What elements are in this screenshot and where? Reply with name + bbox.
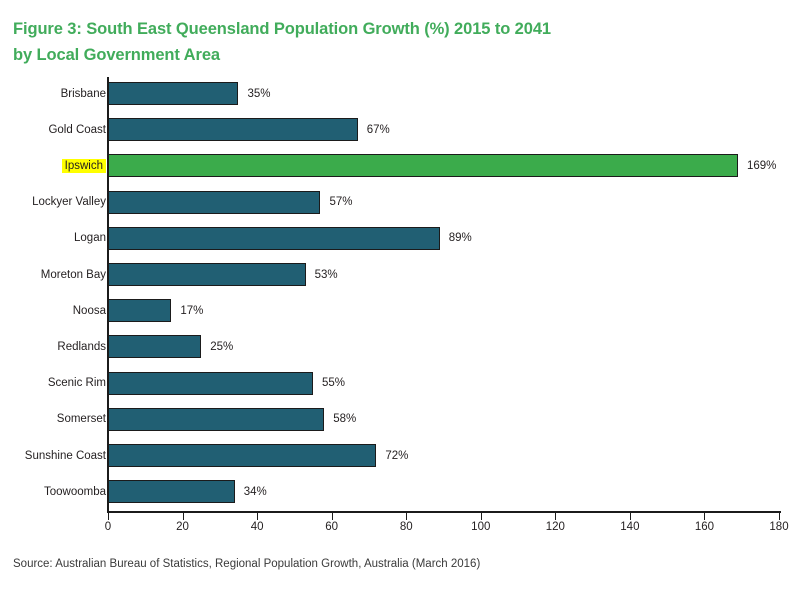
x-tick-label-160: 160 [695, 521, 714, 533]
bar-sunshine-coast [108, 444, 376, 467]
highlight-marker: Ipswich [62, 159, 106, 173]
x-tick-140 [630, 513, 631, 520]
x-tick-160 [704, 513, 705, 520]
category-label-brisbane: Brisbane [61, 87, 106, 101]
x-tick-label-0: 0 [105, 521, 111, 533]
bar-moreton-bay [108, 263, 306, 286]
x-tick-label-60: 60 [325, 521, 338, 533]
x-tick-40 [257, 513, 258, 520]
bar-logan [108, 227, 440, 250]
x-tick-80 [406, 513, 407, 520]
bar-somerset [108, 408, 324, 431]
bar-redlands [108, 335, 201, 358]
category-label-gold-coast: Gold Coast [48, 123, 106, 137]
category-label-scenic-rim: Scenic Rim [48, 376, 106, 390]
category-label-moreton-bay: Moreton Bay [41, 268, 106, 282]
source-note: Source: Australian Bureau of Statistics,… [13, 558, 480, 570]
x-tick-label-120: 120 [546, 521, 565, 533]
x-tick-label-20: 20 [176, 521, 189, 533]
category-label-sunshine-coast: Sunshine Coast [25, 449, 106, 463]
bar-lockyer-valley [108, 191, 320, 214]
category-label-noosa: Noosa [73, 304, 106, 318]
category-label-lockyer-valley: Lockyer Valley [32, 195, 106, 209]
bar-brisbane [108, 82, 238, 105]
x-tick-label-40: 40 [251, 521, 264, 533]
value-label-scenic-rim: 55% [322, 376, 345, 390]
bar-gold-coast [108, 118, 358, 141]
x-tick-20 [183, 513, 184, 520]
category-label-ipswich: Ipswich [62, 159, 106, 173]
x-tick-label-100: 100 [471, 521, 490, 533]
x-tick-label-80: 80 [400, 521, 413, 533]
x-tick-0 [108, 513, 109, 520]
category-label-toowoomba: Toowoomba [44, 485, 106, 499]
bar-toowoomba [108, 480, 235, 503]
value-label-redlands: 25% [210, 340, 233, 354]
value-label-moreton-bay: 53% [315, 268, 338, 282]
bar-scenic-rim [108, 372, 313, 395]
value-label-brisbane: 35% [247, 87, 270, 101]
category-label-somerset: Somerset [57, 412, 106, 426]
value-label-sunshine-coast: 72% [385, 449, 408, 463]
value-label-noosa: 17% [180, 304, 203, 318]
bar-ipswich [108, 154, 738, 177]
bar-chart: BrisbaneGold CoastIpswichLockyer ValleyL… [0, 0, 800, 600]
x-tick-100 [481, 513, 482, 520]
x-tick-180 [779, 513, 780, 520]
bar-noosa [108, 299, 171, 322]
category-label-redlands: Redlands [57, 340, 106, 354]
x-tick-label-140: 140 [620, 521, 639, 533]
value-label-gold-coast: 67% [367, 123, 390, 137]
x-tick-label-180: 180 [769, 521, 788, 533]
x-axis-line [107, 511, 781, 513]
value-label-somerset: 58% [333, 412, 356, 426]
value-label-toowoomba: 34% [244, 485, 267, 499]
x-tick-120 [555, 513, 556, 520]
value-label-ipswich: 169% [747, 159, 776, 173]
value-label-lockyer-valley: 57% [329, 195, 352, 209]
value-label-logan: 89% [449, 231, 472, 245]
x-tick-60 [332, 513, 333, 520]
category-label-logan: Logan [74, 231, 106, 245]
